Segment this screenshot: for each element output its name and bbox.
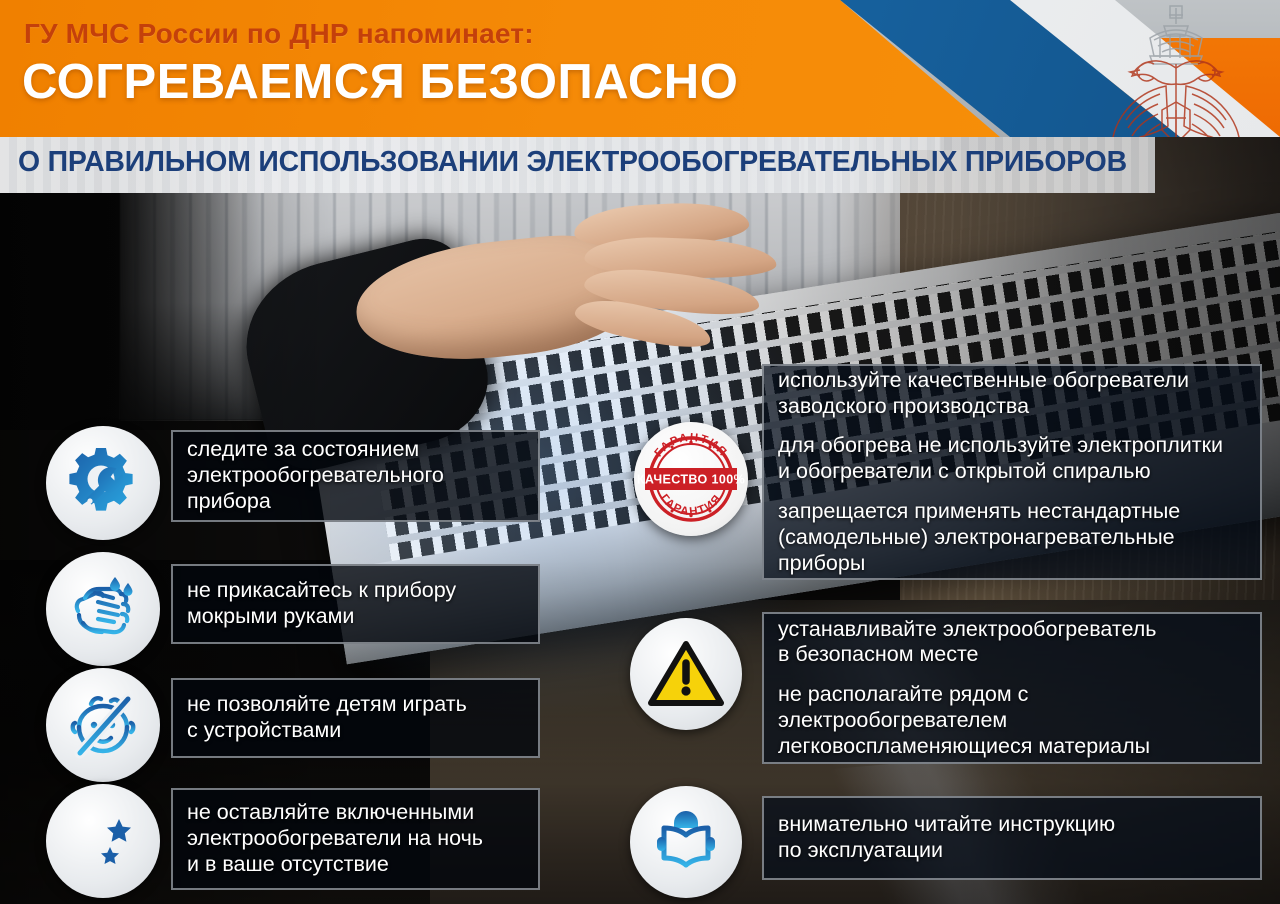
reading-book-icon-badge [630, 786, 742, 898]
guarantee-stamp-icon: ГАРАНТИЯ ГАРАНТИЯ КАЧЕСТВО 100% [634, 422, 748, 536]
no-children-icon-badge [46, 668, 160, 782]
infographic-poster: ГУ МЧС России по ДНР напоминает: СОГРЕВА… [0, 0, 1280, 904]
tip-text: не позволяйте детям играть с устройствам… [187, 692, 524, 744]
tip-text: внимательно читайте инструкцию по эксплу… [778, 812, 1246, 864]
tip-text: используйте качественные обогреватели за… [778, 368, 1246, 420]
reading-book-icon [649, 805, 723, 879]
tip-box-no-wet-hands: не прикасайтесь к прибору мокрыми руками [171, 564, 540, 644]
tip-text: не прикасайтесь к прибору мокрыми руками [187, 578, 524, 630]
gear-wrench-icon [66, 446, 140, 520]
tip-text: для обогрева не используйте электроплитк… [778, 433, 1246, 485]
tip-box-read-instructions: внимательно читайте инструкцию по эксплу… [762, 796, 1262, 880]
mchs-eagle-emblem-icon [1088, 2, 1264, 137]
tip-text: устанавливайте электрообогреватель в без… [778, 617, 1246, 669]
tip-text: запрещается применять нестандартные (сам… [778, 499, 1246, 576]
wet-hands-icon-badge [46, 552, 160, 666]
warning-triangle-icon-badge [630, 618, 742, 730]
tip-box-monitor-device: следите за состоянием электрообогревател… [171, 430, 540, 522]
tip-text: не располагайте рядом с электрообогреват… [778, 682, 1246, 759]
tip-box-no-children: не позволяйте детям играть с устройствам… [171, 678, 540, 758]
tip-text: не оставляйте включенными электрообогрев… [187, 800, 524, 877]
wet-hands-icon [65, 571, 141, 647]
warning-triangle-icon [648, 639, 724, 709]
tip-box-safe-placement: устанавливайте электрообогреватель в без… [762, 612, 1262, 764]
stamp-top-text: ГАРАНТИЯ [653, 432, 730, 460]
stamp-center-text: КАЧЕСТВО 100% [637, 473, 745, 487]
svg-text:ГАРАНТИЯ: ГАРАНТИЯ [653, 432, 730, 460]
header-agency-line: ГУ МЧС России по ДНР напоминает: [24, 18, 534, 50]
tip-box-quality-heaters: используйте качественные обогреватели за… [762, 364, 1262, 580]
moon-stars-icon [65, 803, 141, 879]
poster-header: ГУ МЧС России по ДНР напоминает: СОГРЕВА… [0, 0, 1280, 137]
quality-guarantee-stamp: ГАРАНТИЯ ГАРАНТИЯ КАЧЕСТВО 100% [634, 422, 748, 536]
tip-box-do-not-leave-on: не оставляйте включенными электрообогрев… [171, 788, 540, 890]
subtitle-text: О ПРАВИЛЬНОМ ИСПОЛЬЗОВАНИИ ЭЛЕКТРООБОГРЕ… [18, 146, 1116, 179]
no-children-icon [65, 687, 141, 763]
header-main-title: СОГРЕВАЕМСЯ БЕЗОПАСНО [22, 54, 738, 110]
tip-text: следите за состоянием электрообогревател… [187, 437, 524, 514]
gear-wrench-icon-badge [46, 426, 160, 540]
moon-stars-icon-badge [46, 784, 160, 898]
